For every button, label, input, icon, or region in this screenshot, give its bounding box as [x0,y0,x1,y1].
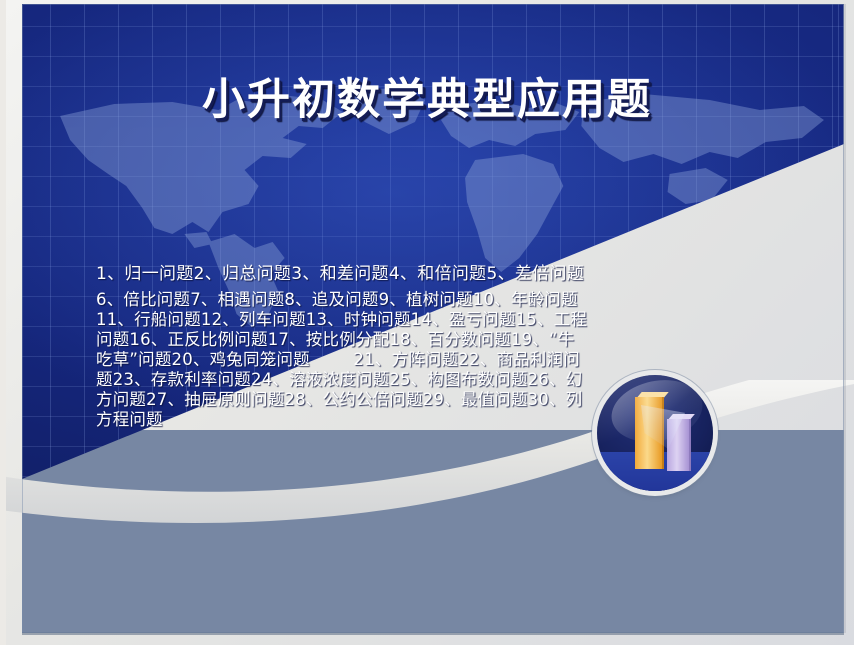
body-text-block: 1、归一问题2、归总问题3、和差问题4、和倍问题5、差倍问题 6、倍比问题7、相… [96,263,786,430]
body-line: 吃草”问题20、鸡兔同笼问题 21、方阵问题22、商品利润问 [96,350,786,370]
presentation-slide: 小升初数学典型应用题 1、归一问题2、归总问题3、和差问题4、和倍问题5、差倍问… [0,0,854,645]
lower-panel [22,430,844,633]
body-line: 1、归一问题2、归总问题3、和差问题4、和倍问题5、差倍问题 [96,263,786,285]
body-line: 11、行船问题12、列车问题13、时钟问题14、盈亏问题15、工程 [96,310,786,330]
body-line: 方问题27、抽屉原则问题28、公约公倍问题29、最值问题30、列 [96,390,786,410]
frame-bottom-shadow [22,632,844,635]
frame-right-shadow [843,4,846,633]
body-line: 问题16、正反比例问题17、按比例分配18、百分数问题19、“牛 [96,330,786,350]
body-line: 6、倍比问题7、相遇问题8、追及问题9、植树问题10、年龄问题 [96,290,786,310]
page-title: 小升初数学典型应用题 [0,78,854,123]
body-line: 题23、存款利率问题24、溶液浓度问题25、构图布数问题26、幻 [96,370,786,390]
body-line: 方程问题 [96,410,786,430]
